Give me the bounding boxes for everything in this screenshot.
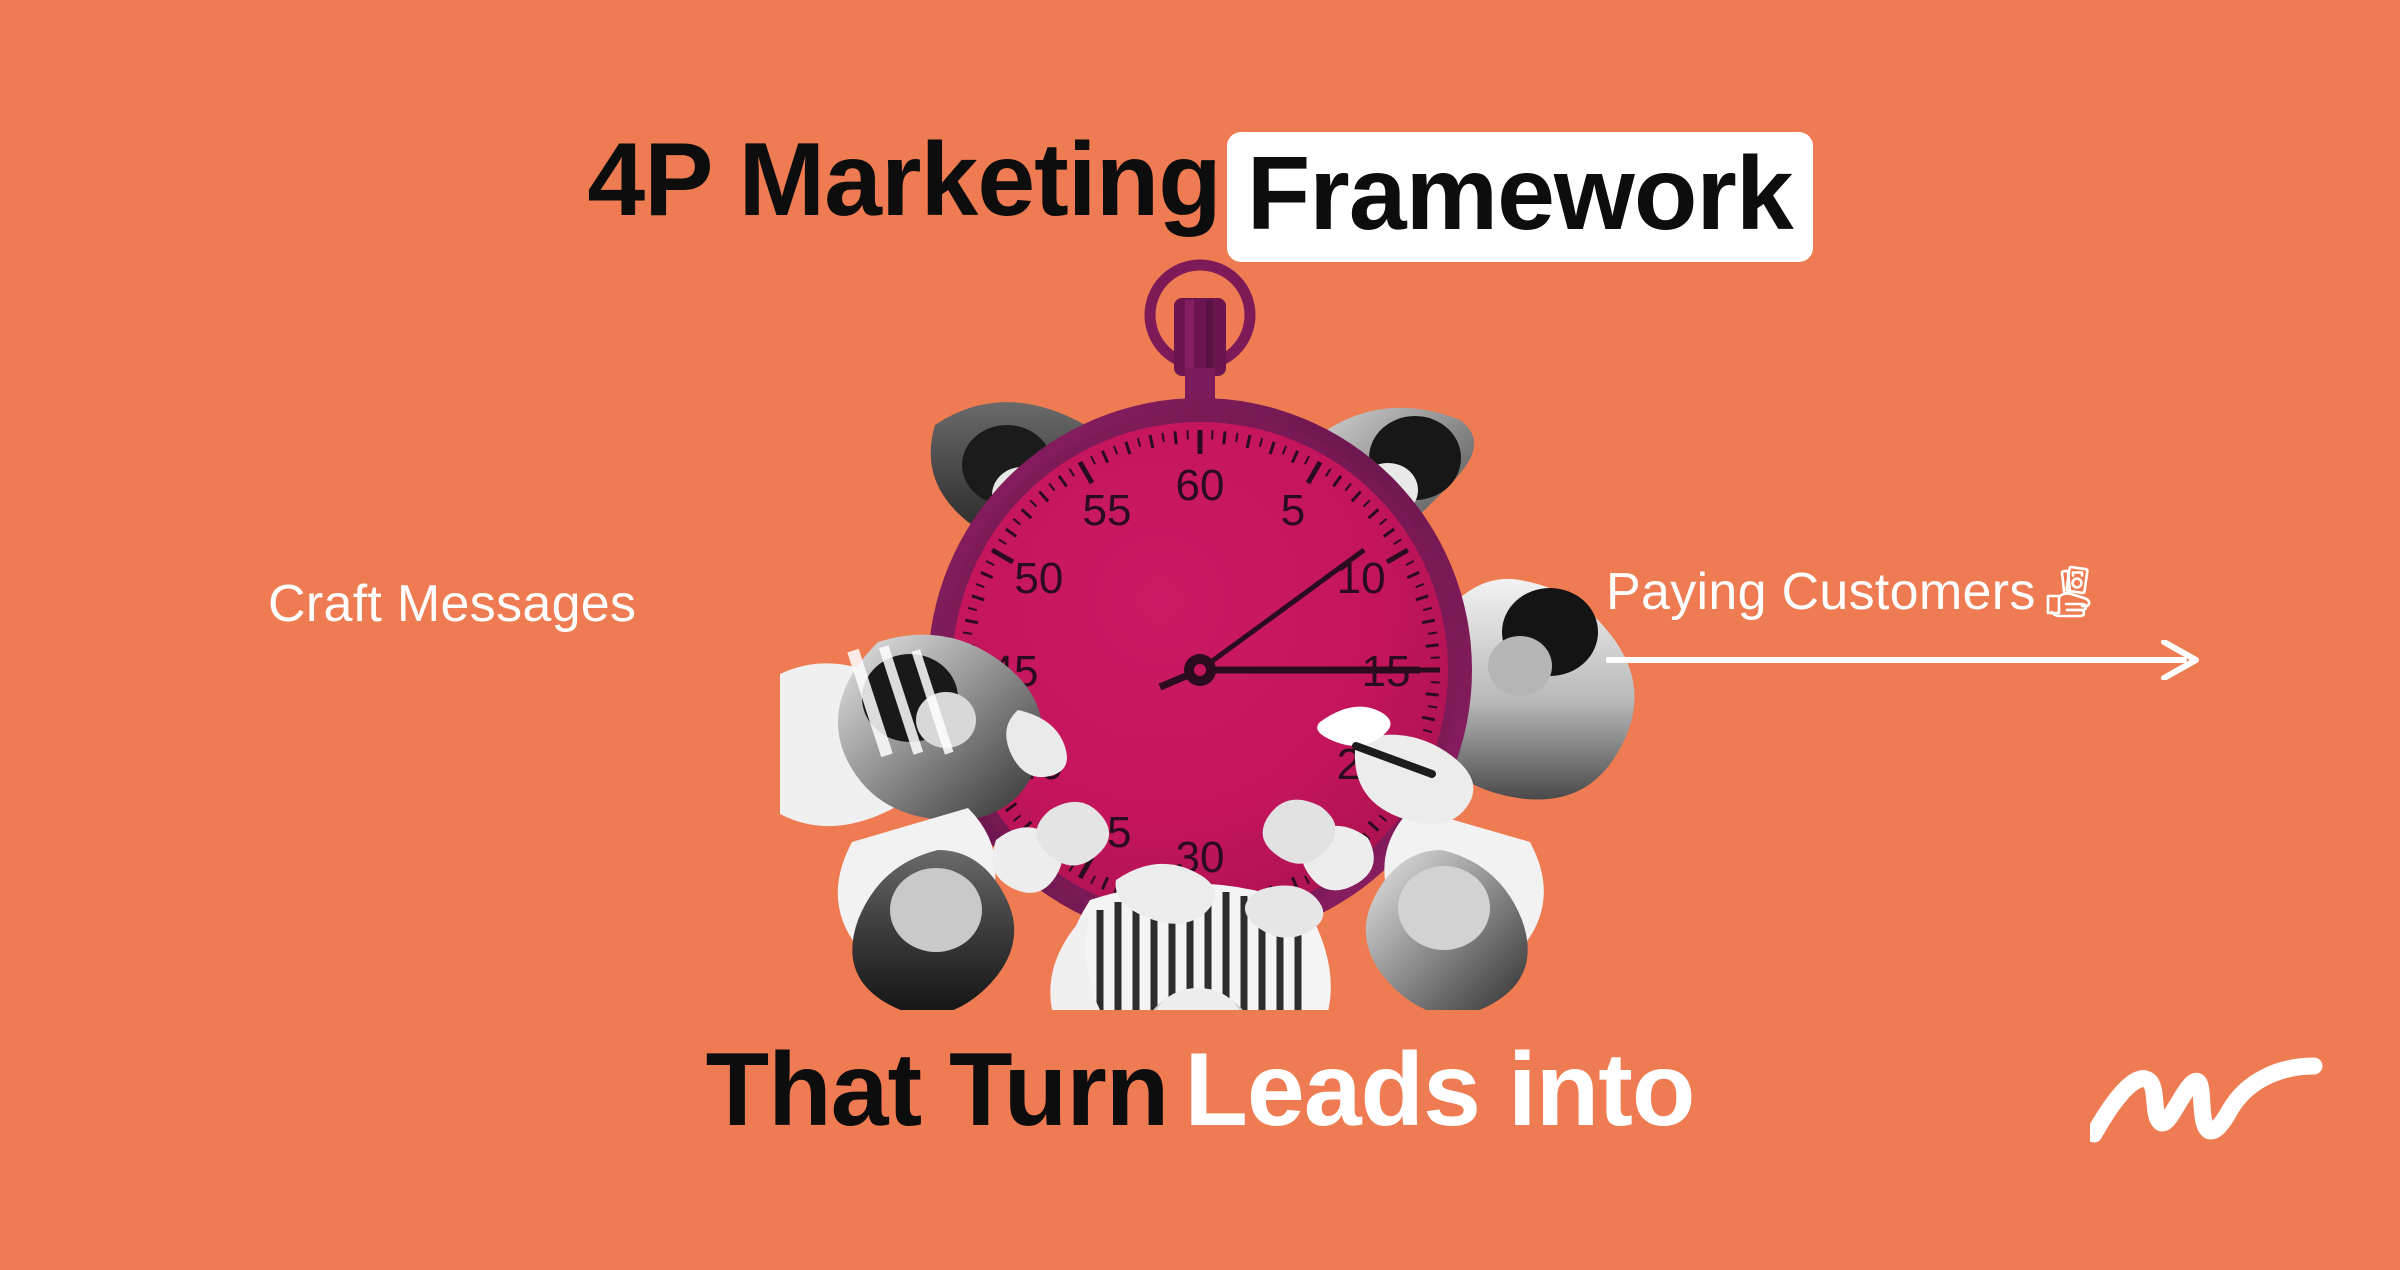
right-label-text: Paying Customers: [1606, 560, 2036, 624]
dial-number: 5: [1281, 486, 1305, 535]
page-subtitle: That TurnLeads into: [0, 1038, 2400, 1142]
stopwatch-illustration: 60510152025303540455055: [760, 250, 1640, 1010]
subline-dark-text: That Turn: [706, 1032, 1169, 1148]
hand-holding-money-icon: [2046, 564, 2102, 620]
right-label-group: Paying Customers: [1606, 560, 2236, 680]
headline-dark-text: 4P Marketing: [587, 122, 1220, 238]
poster-canvas: 4P MarketingFramework: [0, 0, 2400, 1270]
dial-number: 10: [1337, 554, 1386, 603]
subline-light-text: Leads into: [1184, 1032, 1694, 1148]
dial-number: 50: [1014, 554, 1063, 603]
dial-number: 60: [1176, 461, 1225, 510]
mw-logo[interactable]: [2090, 1048, 2330, 1168]
left-label: Craft Messages: [268, 574, 636, 634]
stopwatch-crown-icon: [1150, 265, 1250, 404]
dial-number: 55: [1083, 486, 1132, 535]
arrow-right-icon: [1606, 640, 2200, 680]
page-title: 4P MarketingFramework: [0, 118, 2400, 248]
headline-highlight-chip: Framework: [1227, 132, 1813, 262]
